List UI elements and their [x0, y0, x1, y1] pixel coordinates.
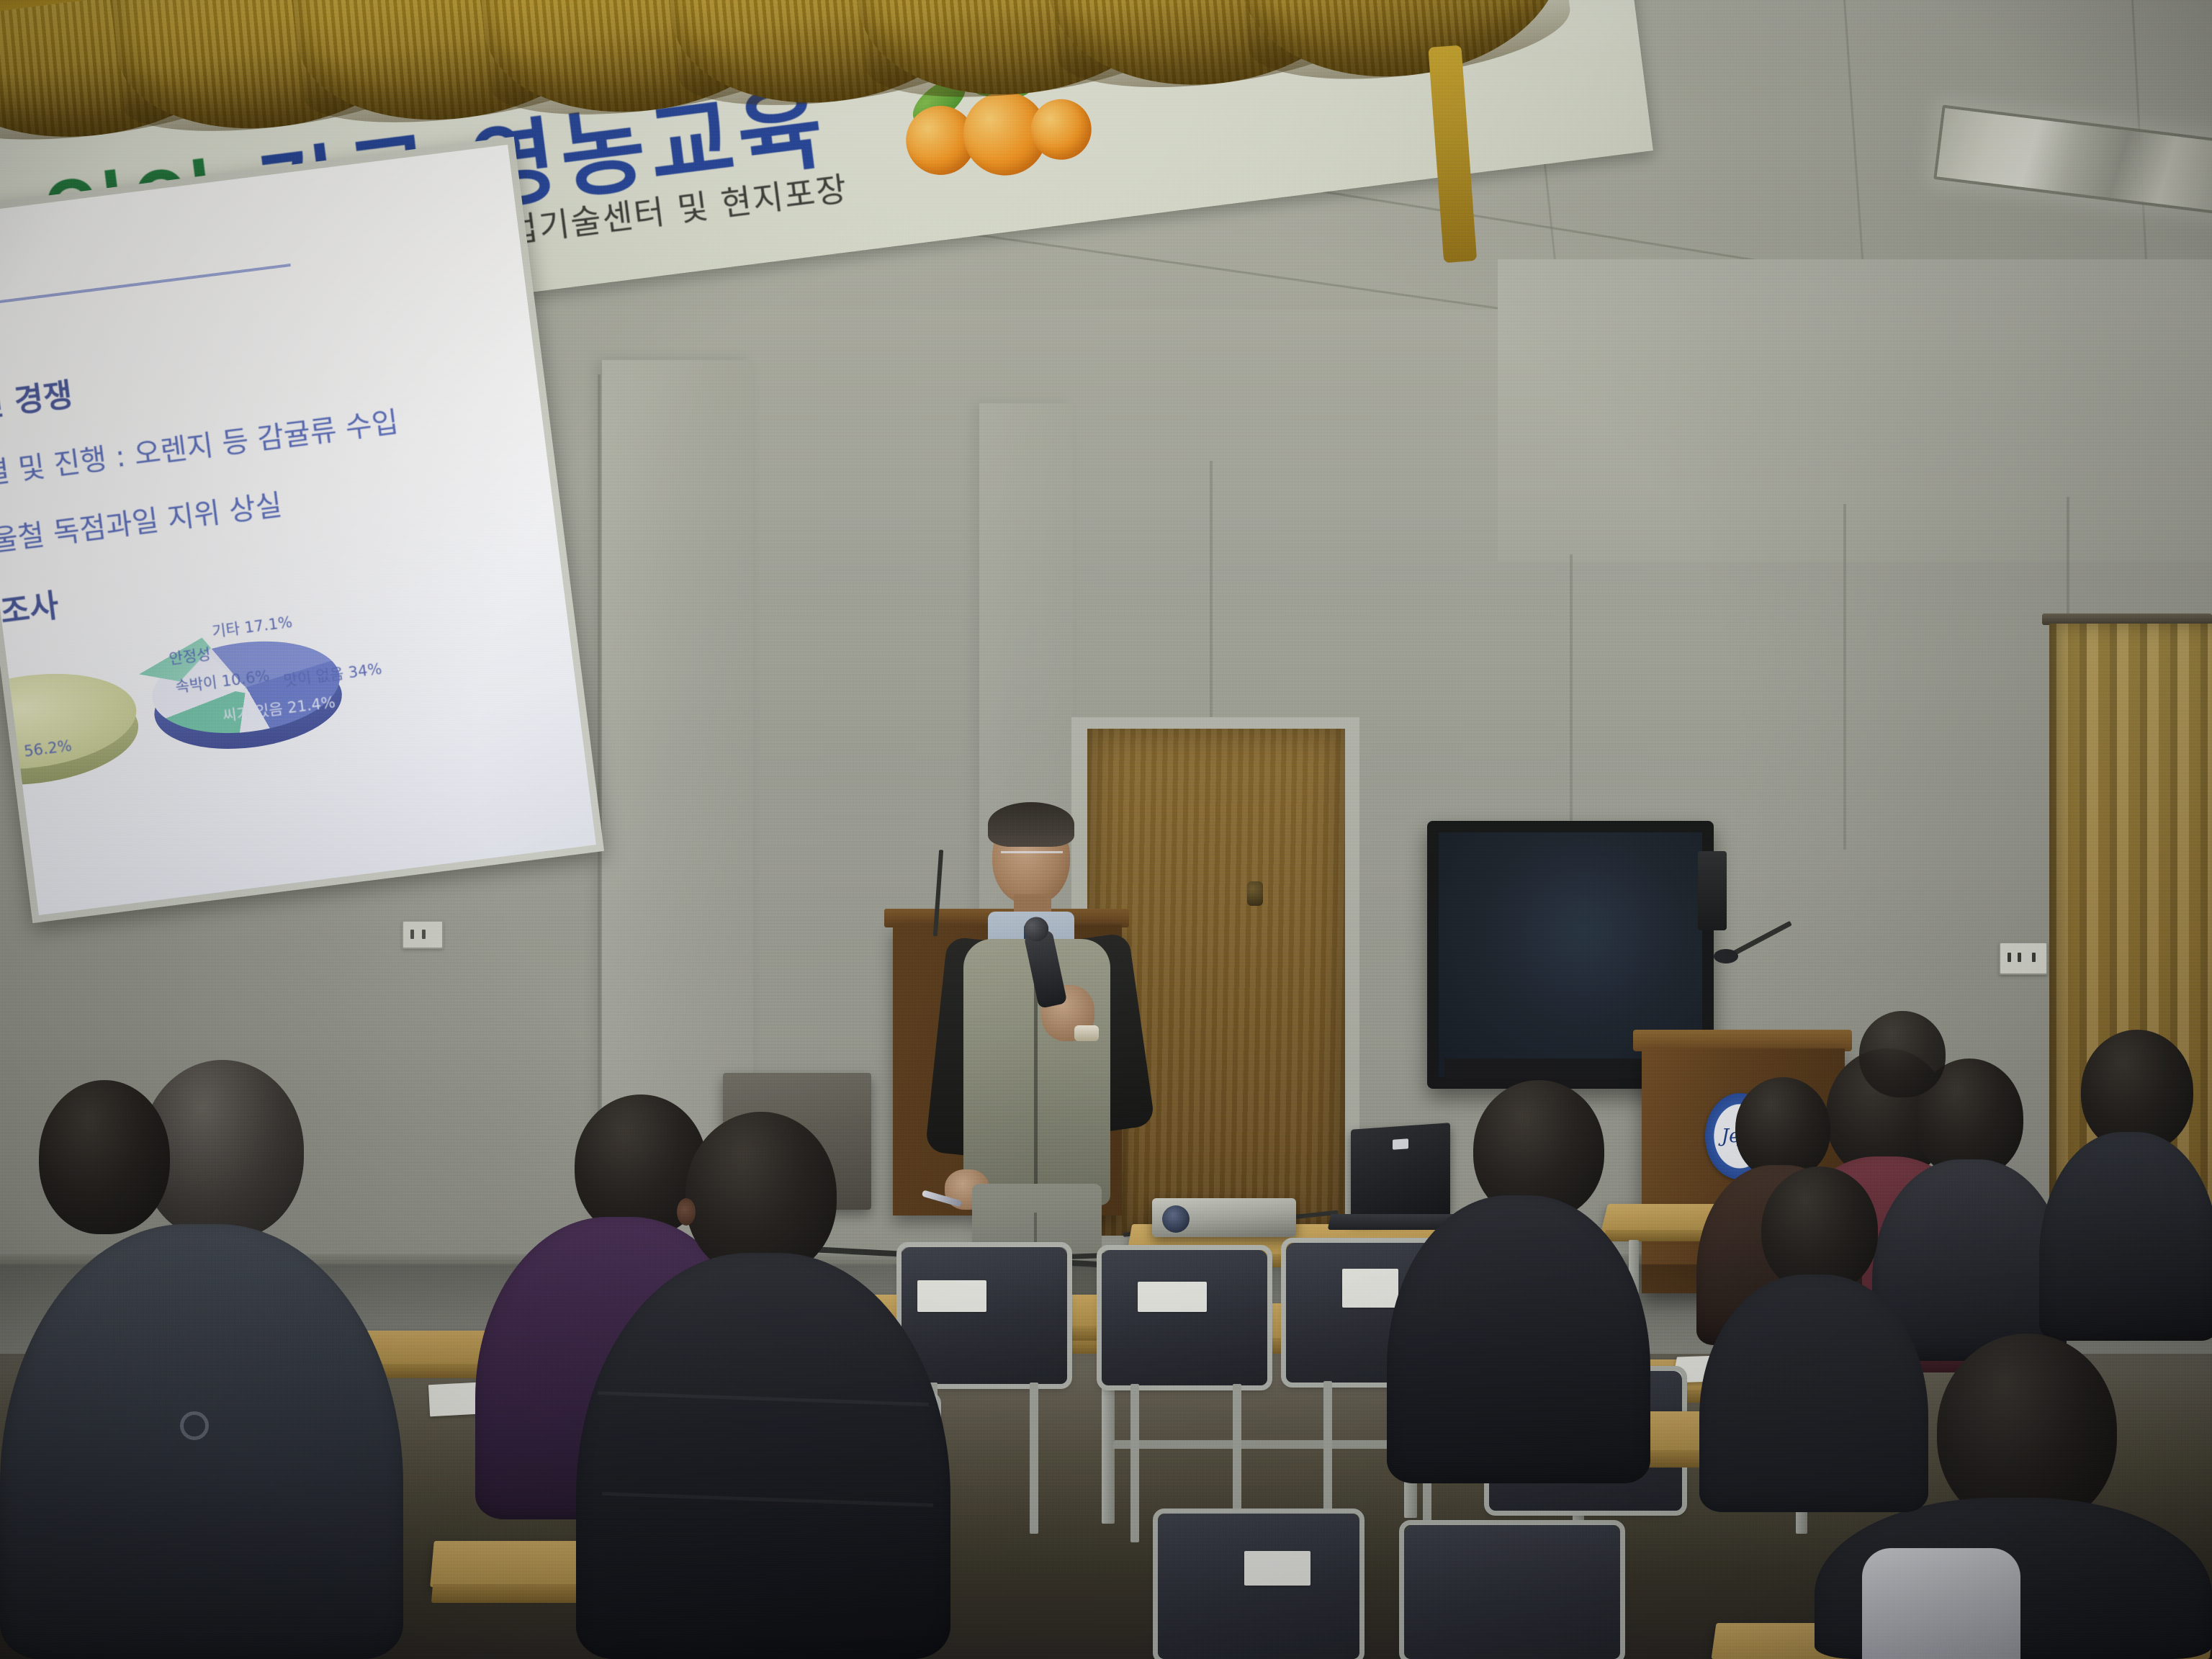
- presenter-head: [992, 809, 1070, 904]
- projector-lens-icon: [1162, 1205, 1190, 1233]
- chair-name-tag: [1244, 1551, 1310, 1586]
- slide-line-5: 조사: [0, 579, 61, 632]
- projected-slide: 한 인 경쟁 결 및 진행 : 오렌지 등 감귤류 수입 울철 독점과일 지위 …: [0, 145, 596, 915]
- upper-right-wall: [1498, 259, 2212, 562]
- wall-outlet[interactable]: [1999, 942, 2048, 975]
- chair[interactable]: [1102, 1250, 1267, 1385]
- chair-name-tag: [1342, 1269, 1398, 1308]
- slide-rule: [0, 264, 291, 308]
- attendee-head: [1859, 1011, 1946, 1097]
- slide-line-4: 울철 독점과일 지위 상실: [0, 481, 284, 559]
- chair[interactable]: [1404, 1525, 1620, 1659]
- presenter: [926, 809, 1171, 1256]
- chair[interactable]: [902, 1247, 1067, 1384]
- jacket-button-icon: [180, 1411, 209, 1440]
- pie-chart-left: [0, 662, 144, 796]
- laptop-logo-icon: [1393, 1138, 1408, 1150]
- attendee-hood: [1862, 1548, 2020, 1659]
- glasses-icon: [1001, 851, 1063, 865]
- chair-name-tag: [1138, 1282, 1207, 1312]
- attendee-head: [39, 1080, 170, 1234]
- attendee-head: [1735, 1077, 1830, 1179]
- desk-brace: [1112, 1440, 1406, 1449]
- chair-leg: [1130, 1384, 1139, 1542]
- pie-chart-main: 기타 17.1% 안정성 속박이 10.6% 맛이 없음 34% 씨가 있음 2…: [127, 609, 367, 780]
- tv-side-speaker: [1698, 851, 1727, 930]
- chair-name-tag: [917, 1280, 986, 1312]
- chair-leg: [1030, 1382, 1038, 1534]
- lecture-hall-photo: 농업인 감귤 영농교육 . 26(금) ~ 3. 2(월) 10 : 00 ~ …: [0, 0, 2212, 1659]
- slide-line-2: 인 경쟁: [0, 369, 75, 427]
- wall-outlet[interactable]: [402, 920, 444, 949]
- pie-label-other: 기타 17.1%: [211, 611, 294, 642]
- data-projector[interactable]: [1152, 1198, 1296, 1237]
- presenter-hair: [988, 802, 1074, 847]
- wall-panel-joint: [1843, 504, 1846, 850]
- wristwatch-icon: [1074, 1025, 1099, 1041]
- door-handle-icon[interactable]: [1247, 881, 1263, 906]
- podium-microphone-head-icon: [1714, 949, 1738, 963]
- chair[interactable]: [1158, 1514, 1359, 1659]
- presentation-laptop[interactable]: [1351, 1123, 1450, 1222]
- projection-screen: 한 인 경쟁 결 및 진행 : 오렌지 등 감귤류 수입 울철 독점과일 지위 …: [0, 137, 604, 923]
